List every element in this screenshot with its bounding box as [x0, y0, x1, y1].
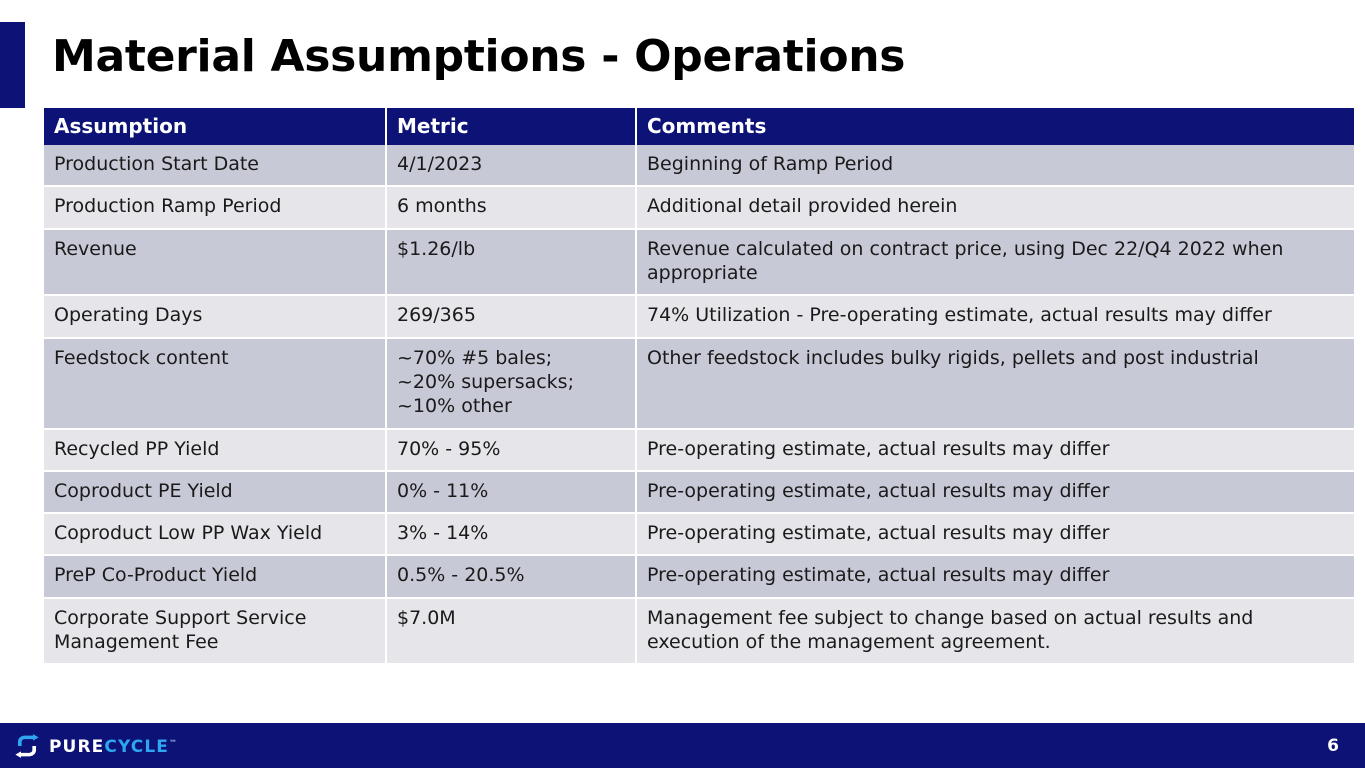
- logo-trademark-icon: ™: [169, 738, 177, 747]
- slide-footer: PURECYCLE™ 6: [0, 723, 1365, 768]
- cell-metric: ~70% #5 bales; ~20% supersacks; ~10% oth…: [386, 338, 636, 429]
- assumptions-table-wrapper: Assumption Metric Comments Production St…: [44, 108, 1354, 663]
- table-row: Corporate Support Service Management Fee…: [44, 598, 1354, 664]
- cell-comments: Pre-operating estimate, actual results m…: [636, 555, 1354, 597]
- cell-assumption: Revenue: [44, 229, 386, 296]
- cell-assumption: Corporate Support Service Management Fee: [44, 598, 386, 664]
- cell-metric: $1.26/lb: [386, 229, 636, 296]
- table-header-row: Assumption Metric Comments: [44, 108, 1354, 145]
- cell-comments: Management fee subject to change based o…: [636, 598, 1354, 664]
- cell-metric: 269/365: [386, 295, 636, 337]
- cell-comments: Pre-operating estimate, actual results m…: [636, 429, 1354, 471]
- cell-metric: 0.5% - 20.5%: [386, 555, 636, 597]
- cell-metric: 3% - 14%: [386, 513, 636, 555]
- page-title: Material Assumptions - Operations: [52, 33, 905, 81]
- slide: Material Assumptions - Operations Assump…: [0, 0, 1365, 768]
- table-row: PreP Co-Product Yield 0.5% - 20.5% Pre-o…: [44, 555, 1354, 597]
- table-row: Recycled PP Yield 70% - 95% Pre-operatin…: [44, 429, 1354, 471]
- cell-comments: Revenue calculated on contract price, us…: [636, 229, 1354, 296]
- cell-metric: $7.0M: [386, 598, 636, 664]
- table-row: Production Ramp Period 6 months Addition…: [44, 186, 1354, 228]
- cell-comments: Additional detail provided herein: [636, 186, 1354, 228]
- purecycle-logo: PURECYCLE™: [14, 733, 177, 759]
- logo-wordmark: PURECYCLE™: [49, 739, 177, 756]
- table-row: Operating Days 269/365 74% Utilization -…: [44, 295, 1354, 337]
- cell-metric: 4/1/2023: [386, 145, 636, 186]
- cell-assumption: Coproduct Low PP Wax Yield: [44, 513, 386, 555]
- cell-assumption: PreP Co-Product Yield: [44, 555, 386, 597]
- cell-assumption: Feedstock content: [44, 338, 386, 429]
- cell-metric: 70% - 95%: [386, 429, 636, 471]
- table-row: Coproduct PE Yield 0% - 11% Pre-operatin…: [44, 471, 1354, 513]
- cell-assumption: Production Start Date: [44, 145, 386, 186]
- cell-metric: 6 months: [386, 186, 636, 228]
- table-row: Revenue $1.26/lb Revenue calculated on c…: [44, 229, 1354, 296]
- title-accent-bar: [0, 22, 25, 108]
- logo-text-cycle: CYCLE: [104, 737, 169, 757]
- cell-comments: Beginning of Ramp Period: [636, 145, 1354, 186]
- cell-assumption: Coproduct PE Yield: [44, 471, 386, 513]
- column-header-comments: Comments: [636, 108, 1354, 145]
- cell-comments: Other feedstock includes bulky rigids, p…: [636, 338, 1354, 429]
- column-header-assumption: Assumption: [44, 108, 386, 145]
- cell-comments: Pre-operating estimate, actual results m…: [636, 471, 1354, 513]
- cell-assumption: Recycled PP Yield: [44, 429, 386, 471]
- page-number: 6: [1327, 736, 1339, 756]
- table-row: Coproduct Low PP Wax Yield 3% - 14% Pre-…: [44, 513, 1354, 555]
- cell-comments: Pre-operating estimate, actual results m…: [636, 513, 1354, 555]
- table-row: Production Start Date 4/1/2023 Beginning…: [44, 145, 1354, 186]
- column-header-metric: Metric: [386, 108, 636, 145]
- cell-metric: 0% - 11%: [386, 471, 636, 513]
- logo-text-pure: PURE: [49, 737, 104, 757]
- cell-assumption: Production Ramp Period: [44, 186, 386, 228]
- recycle-arrows-icon: [14, 734, 40, 758]
- table-row: Feedstock content ~70% #5 bales; ~20% su…: [44, 338, 1354, 429]
- cell-comments: 74% Utilization - Pre-operating estimate…: [636, 295, 1354, 337]
- assumptions-table: Assumption Metric Comments Production St…: [44, 108, 1354, 663]
- cell-assumption: Operating Days: [44, 295, 386, 337]
- table-header: Assumption Metric Comments: [44, 108, 1354, 145]
- table-body: Production Start Date 4/1/2023 Beginning…: [44, 145, 1354, 663]
